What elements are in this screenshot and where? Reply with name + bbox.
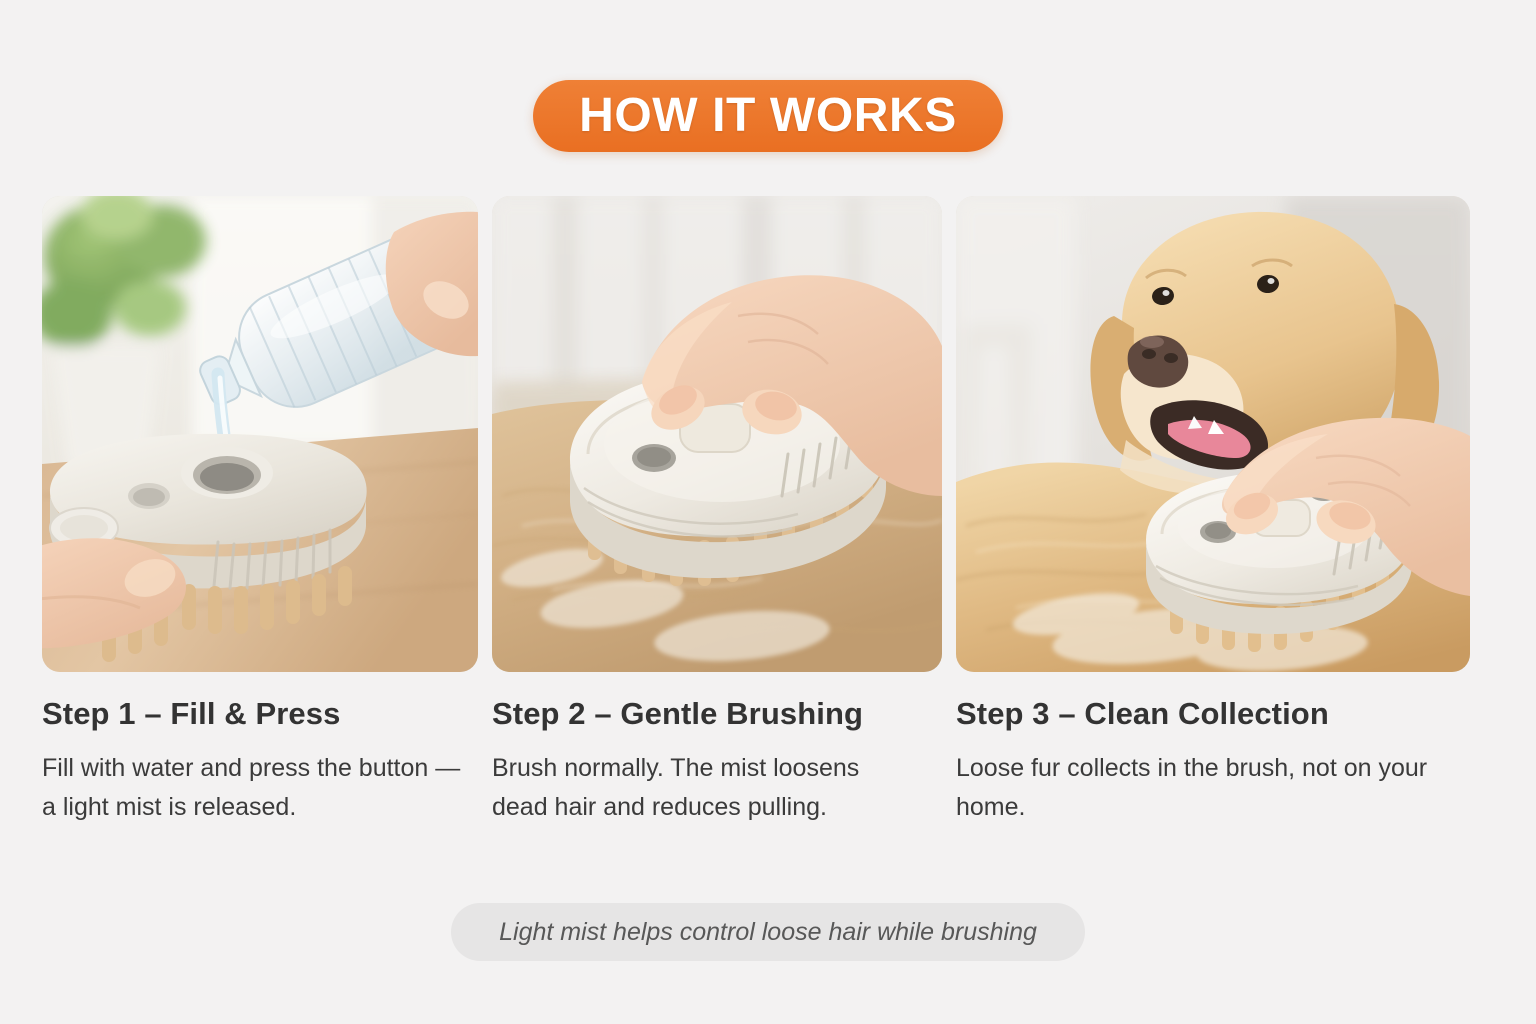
pouring-water-into-brush-photo	[42, 196, 478, 672]
step-description: Fill with water and press the button — a…	[42, 749, 462, 827]
header: HOW IT WORKS	[0, 80, 1536, 152]
step-description: Loose fur collects in the brush, not on …	[956, 749, 1446, 827]
footer: Light mist helps control loose hair whil…	[0, 903, 1536, 961]
step-title: Step 1 – Fill & Press	[42, 696, 478, 732]
golden-retriever-groomed-photo	[956, 196, 1470, 672]
step-card-1: Step 1 – Fill & Press Fill with water an…	[42, 196, 478, 827]
step-title: Step 2 – Gentle Brushing	[492, 696, 942, 732]
step-title: Step 3 – Clean Collection	[956, 696, 1470, 732]
badge-label: HOW IT WORKS	[579, 92, 957, 140]
caption-pill: Light mist helps control loose hair whil…	[451, 903, 1085, 961]
caption-label: Light mist helps control loose hair whil…	[499, 920, 1037, 945]
how-it-works-badge: HOW IT WORKS	[533, 80, 1003, 152]
brushing-fur-photo	[492, 196, 942, 672]
step-card-2: Step 2 – Gentle Brushing Brush normally.…	[492, 196, 942, 827]
steps-grid: Step 1 – Fill & Press Fill with water an…	[42, 196, 1494, 827]
step-card-3: Step 3 – Clean Collection Loose fur coll…	[956, 196, 1470, 827]
step-description: Brush normally. The mist loosens dead ha…	[492, 749, 912, 827]
how-it-works-infographic: HOW IT WORKS	[0, 0, 1536, 1024]
